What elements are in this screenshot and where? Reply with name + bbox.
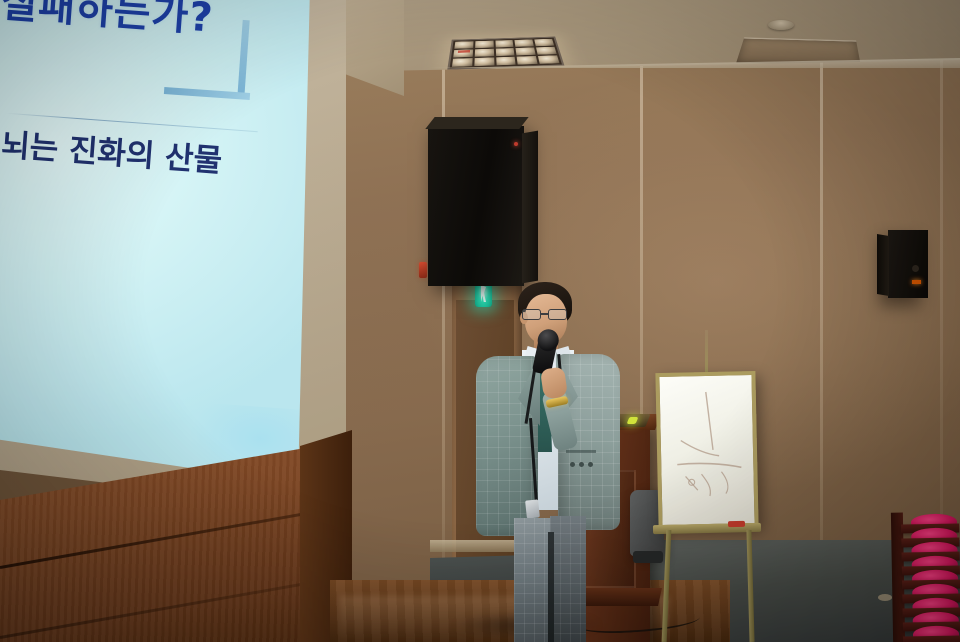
floor-object: [878, 594, 892, 601]
speaker-power-led: [514, 142, 518, 146]
eyeglasses-icon: [522, 309, 570, 320]
stacked-chairs: [901, 512, 960, 642]
loudspeaker-large: [428, 126, 524, 286]
lecture-hall-photo: 게 실패하는가? 의 뇌는 진화의 산물 38/8 ASEM 심리상담센터: [0, 0, 960, 642]
jacket-cuff-buttons: [570, 458, 596, 472]
speaker-side-face: [877, 234, 889, 296]
speaker-top-face: [425, 117, 528, 129]
projection-screen: 게 실패하는가? 의 뇌는 진화의 산물 38/8 ASEM 심리상담센터: [0, 0, 310, 506]
speaker-driver-icon: [912, 265, 919, 272]
chair-backrest: [903, 635, 960, 642]
speaker-power-led: [912, 280, 921, 284]
jacket-pocket: [566, 450, 596, 453]
presenter-leg-right: [550, 516, 586, 642]
presenter: [470, 282, 630, 642]
ceiling-light-grid: [452, 39, 559, 67]
trouser-shadow: [548, 532, 554, 642]
sprinkler-head: [768, 20, 794, 30]
projected-slide: 게 실패하는가? 의 뇌는 진화의 산물 38/8 ASEM 심리상담센터: [0, 0, 310, 506]
name-badge: [525, 499, 540, 518]
presenter-hand: [540, 366, 568, 399]
whiteboard-upright-post: [705, 330, 708, 376]
loudspeaker-small: [888, 230, 928, 298]
whiteboard: [655, 371, 758, 529]
ceiling-light-red-marker: [458, 50, 470, 53]
slide-title: 게 실패하는가?: [0, 0, 216, 44]
presenter-leg-left: [514, 518, 552, 642]
slide-accent-bar-vertical: [237, 20, 249, 98]
ceiling-light-fixture: [447, 37, 564, 70]
red-marker[interactable]: [728, 521, 745, 527]
fire-alarm-device: [419, 262, 427, 278]
speaker-side-face: [522, 131, 538, 284]
whiteboard-sketch: [659, 375, 762, 533]
